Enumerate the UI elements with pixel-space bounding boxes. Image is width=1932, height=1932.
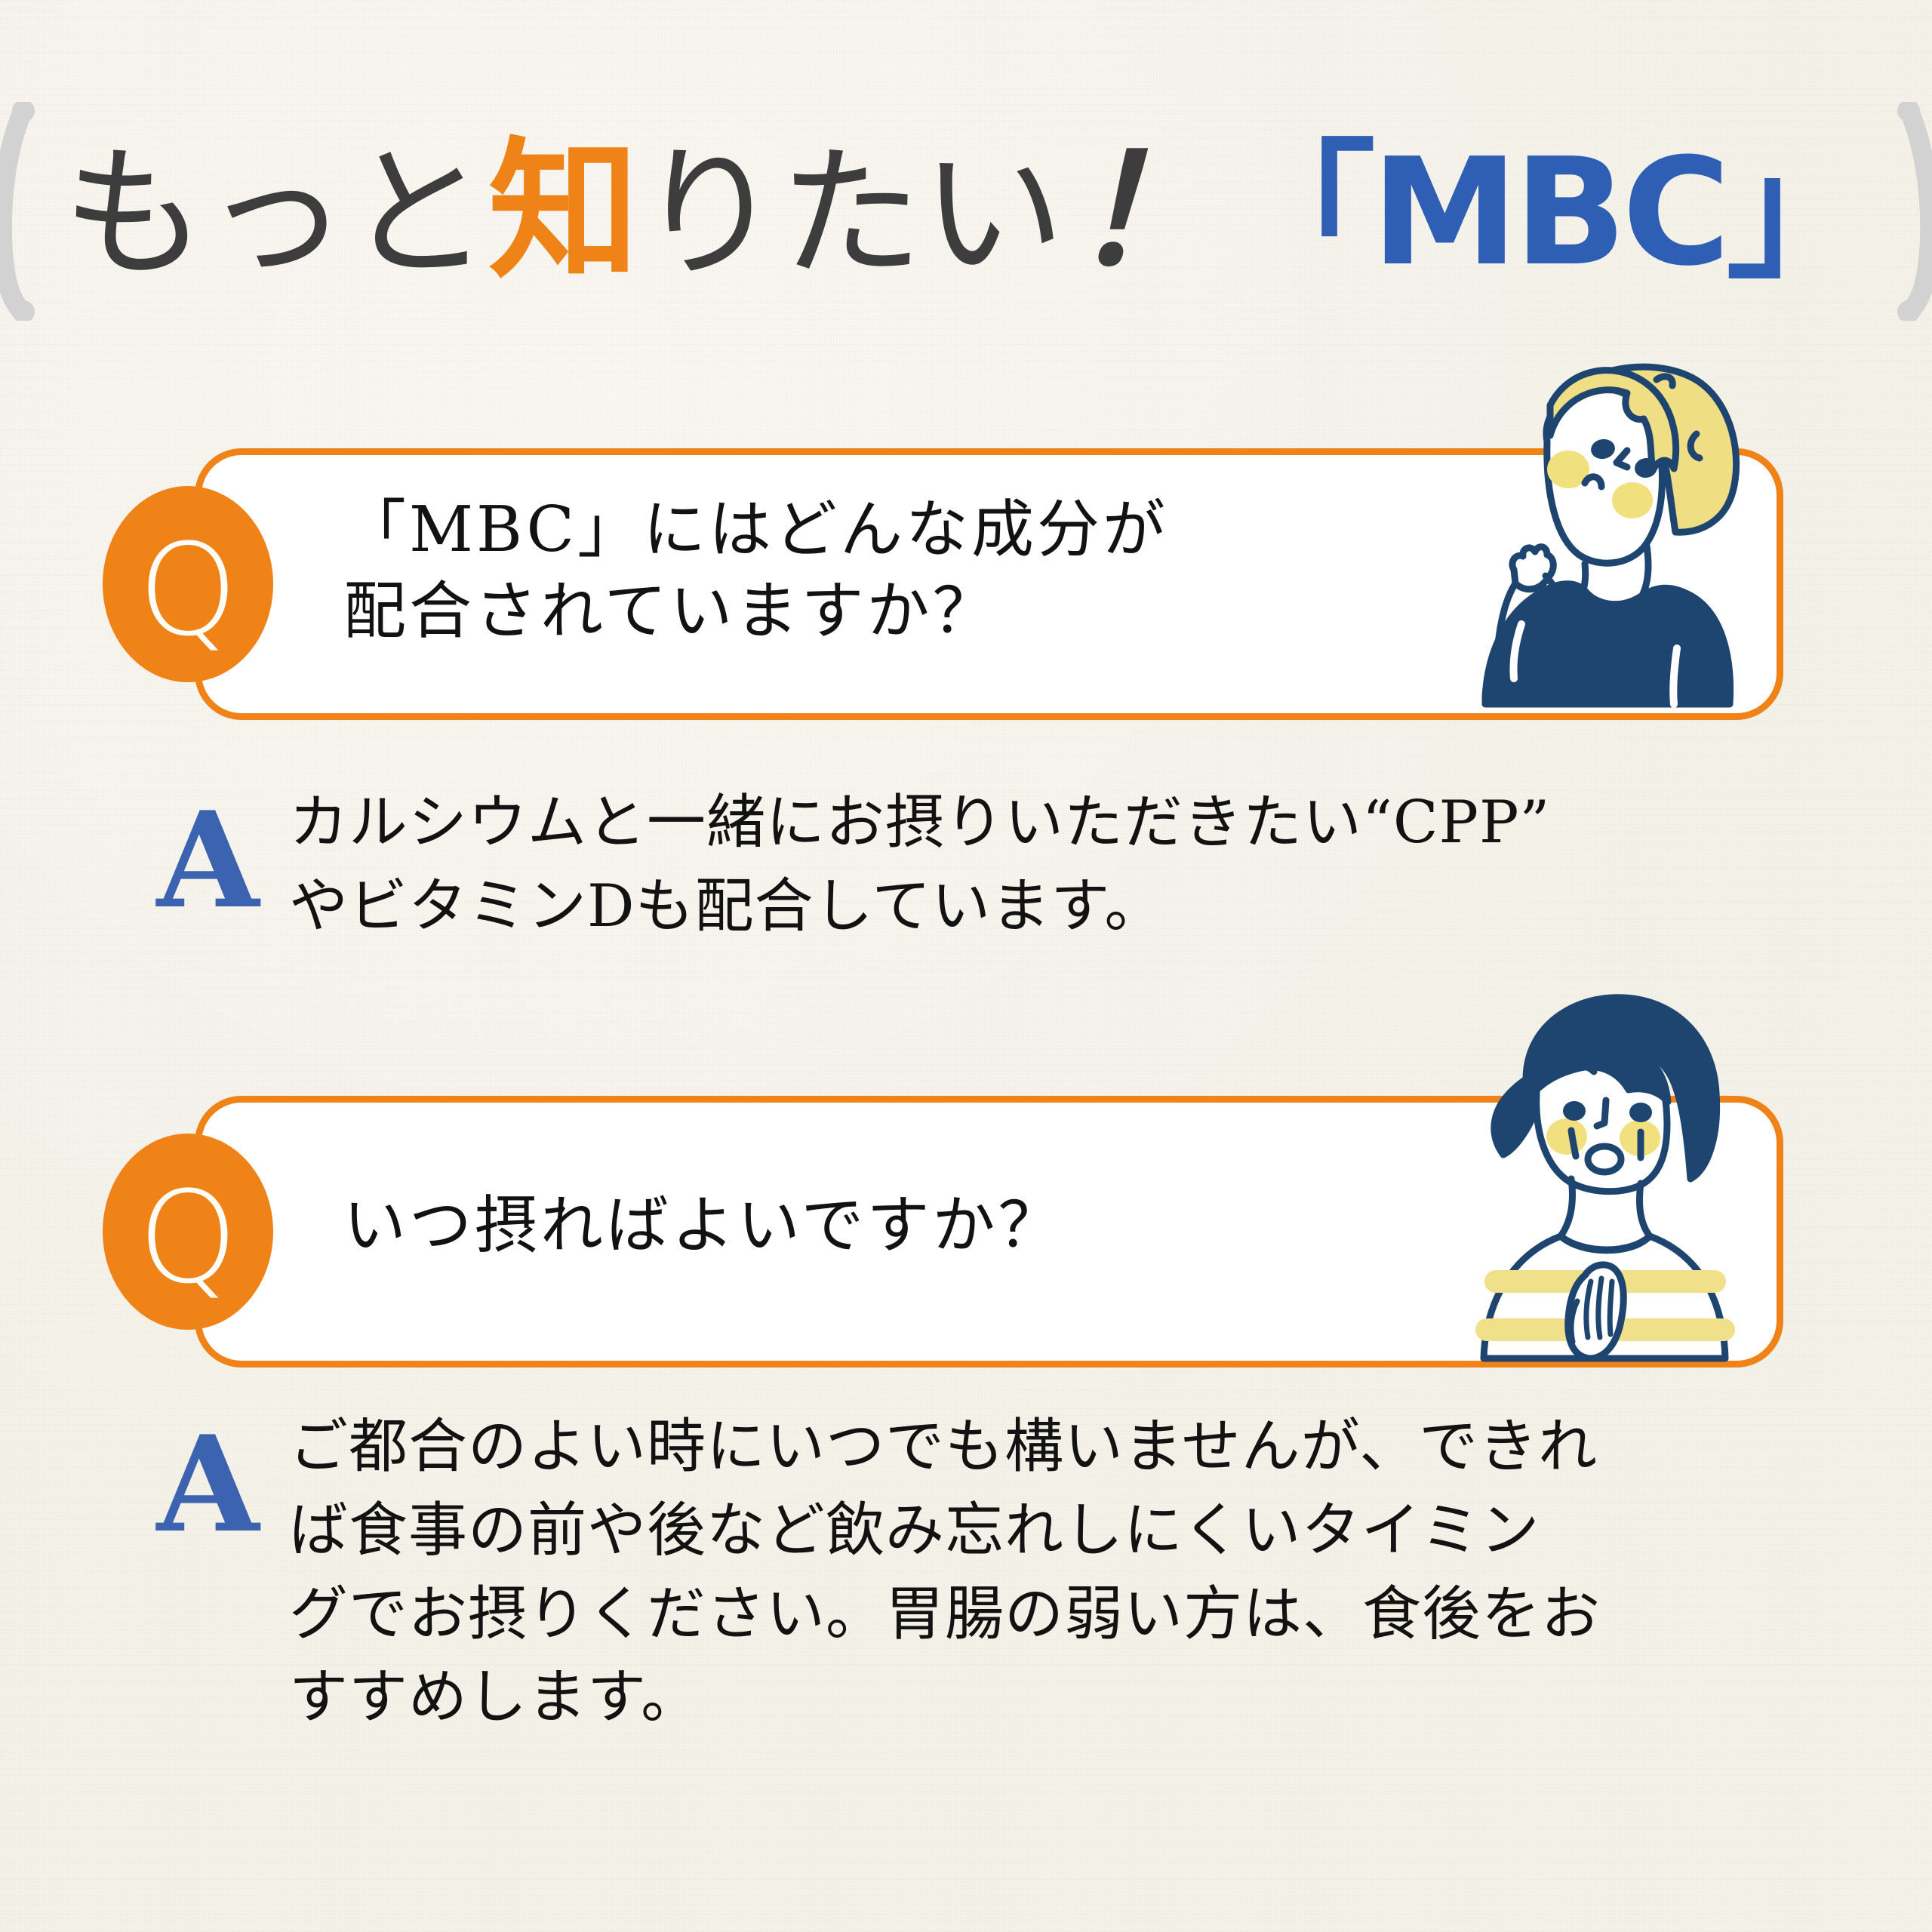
title-brand: 「MBC」 bbox=[1228, 139, 1869, 287]
question-badge-1: Q bbox=[103, 486, 273, 682]
title-exclamation: ！ bbox=[1063, 136, 1228, 287]
answer-badge-2: A bbox=[127, 1419, 289, 1551]
title-part-3: りたい bbox=[638, 143, 1063, 286]
answer-badge-1: A bbox=[127, 795, 289, 927]
question-badge-2: Q bbox=[103, 1134, 273, 1330]
question-badge-letter: Q bbox=[138, 527, 238, 654]
title-highlight-kanji: 知 bbox=[488, 137, 638, 288]
question-badge-letter: Q bbox=[138, 1174, 238, 1301]
answer-row-2: A ご都合のよい時にいつでも構いませんが、できれ ば食事の前や後など飲み忘れしに… bbox=[127, 1405, 1601, 1740]
page-header: もっと 知 りたい ！ 「MBC」 bbox=[0, 91, 1932, 332]
page-title: もっと 知 りたい ！ 「MBC」 bbox=[63, 136, 1869, 288]
question-text-1: 「MBC」にはどんな成分が 配合されていますか？ bbox=[343, 489, 1168, 652]
brace-left-icon bbox=[0, 102, 37, 321]
question-text-2: いつ摂ればよいですか？ bbox=[343, 1185, 1064, 1266]
answer-text-2: ご都合のよい時にいつでも構いませんが、できれ ば食事の前や後など飲み忘れしにくい… bbox=[289, 1405, 1601, 1740]
worried-woman-bob-illustration bbox=[1457, 981, 1751, 1370]
faq-page: もっと 知 りたい ！ 「MBC」 Q 「MBC」にはどんな成分が 配合されてい… bbox=[0, 0, 1932, 1932]
answer-row-1: A カルシウムと一緒にお摂りいただきたい“CPP” やビタミンDも配合しています… bbox=[127, 781, 1550, 949]
answer-text-1: カルシウムと一緒にお摂りいただきたい“CPP” やビタミンDも配合しています。 bbox=[289, 781, 1550, 949]
thinking-woman-blonde-illustration bbox=[1472, 343, 1758, 721]
title-part-1: もっと bbox=[63, 143, 488, 286]
brace-right-icon bbox=[1895, 102, 1932, 321]
